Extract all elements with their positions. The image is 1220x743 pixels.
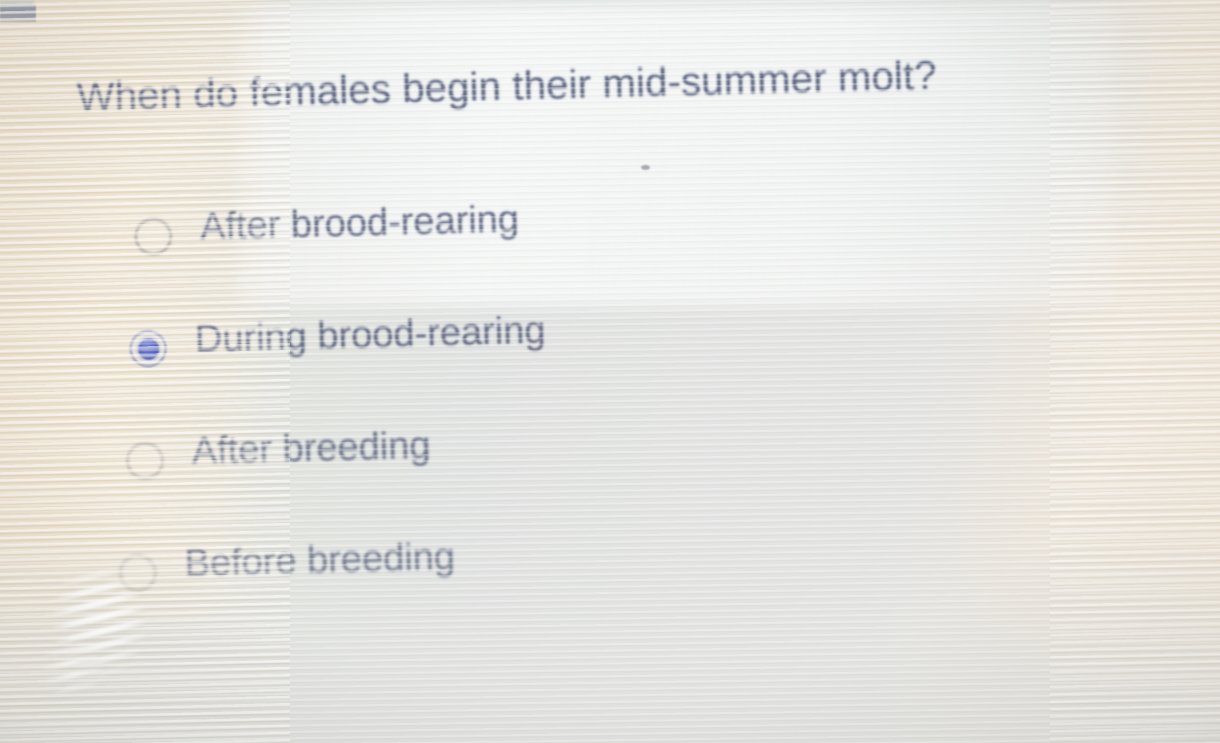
answer-option-label: After breeding [191, 425, 431, 474]
quiz-content: When do females begin their mid-summer m… [0, 0, 1220, 743]
answer-options-group[interactable]: After brood-rearing During brood-rearing… [0, 181, 1220, 660]
answer-option-label: Before breeding [184, 536, 455, 586]
photographed-quiz-screen: When do females begin their mid-summer m… [0, 0, 1220, 743]
question-text: When do females begin their mid-summer m… [76, 49, 1137, 121]
radio-unchecked-icon[interactable] [134, 217, 173, 256]
answer-option-label: After brood-rearing [200, 198, 520, 249]
dust-speck [641, 165, 650, 170]
radio-unchecked-icon[interactable] [126, 441, 165, 480]
answer-option-label: During brood-rearing [194, 310, 546, 362]
radio-unchecked-icon[interactable] [118, 554, 157, 593]
radio-checked-icon[interactable] [129, 329, 168, 368]
